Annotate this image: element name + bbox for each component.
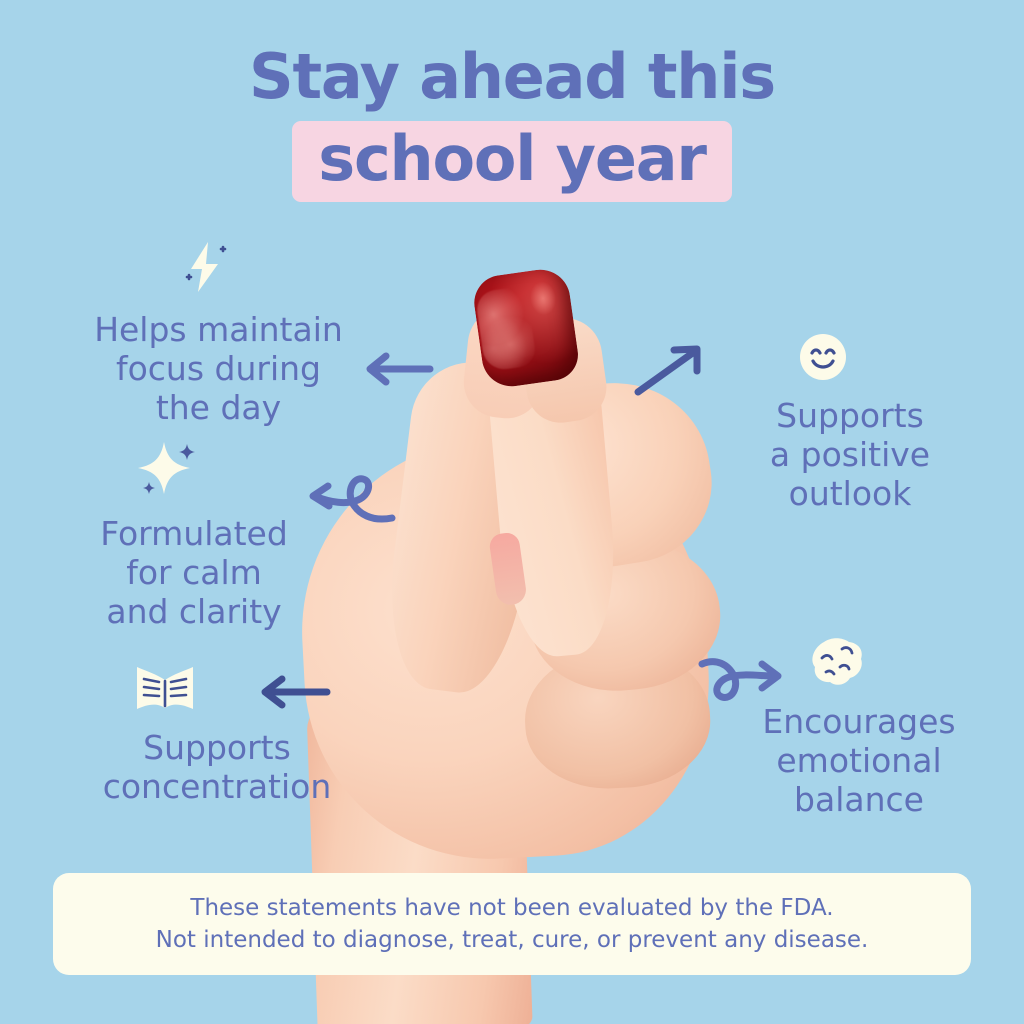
- fda-disclaimer-box: These statements have not been evaluated…: [53, 873, 971, 975]
- arrow-up-right-diagonal-outlook: [632, 340, 710, 402]
- feature-balance: Encourages emotional balance: [714, 634, 1004, 819]
- feature-concentration-text: Supports concentration: [62, 728, 372, 806]
- feature-calm: Formulated for calm and clarity: [40, 438, 348, 631]
- headline-line-1: Stay ahead this: [0, 44, 1024, 110]
- smiley-face-icon: [796, 330, 1000, 388]
- feature-focus: Helps maintain focus during the day: [46, 236, 391, 427]
- headline-highlight-box: school year: [292, 121, 732, 202]
- gummy-supplement: [471, 266, 582, 390]
- headline: Stay ahead this school year: [0, 44, 1024, 202]
- promotional-poster: Stay ahead this school year: [0, 0, 1024, 1024]
- brain-icon: [806, 634, 1004, 694]
- gummy-highlight: [528, 280, 558, 317]
- open-book-icon: [132, 660, 372, 720]
- feature-calm-text: Formulated for calm and clarity: [40, 514, 348, 631]
- headline-line-2: school year: [318, 127, 706, 191]
- sparkle-icon: [132, 438, 348, 506]
- fda-disclaimer-text: These statements have not been evaluated…: [138, 892, 887, 956]
- feature-outlook: Supports a positive outlook: [700, 330, 1000, 513]
- feature-outlook-text: Supports a positive outlook: [700, 396, 1000, 513]
- gummy-texture: [475, 286, 538, 372]
- lightning-bolt-icon: [174, 236, 391, 302]
- feature-concentration: Supports concentration: [62, 660, 372, 806]
- feature-balance-text: Encourages emotional balance: [714, 702, 1004, 819]
- feature-focus-text: Helps maintain focus during the day: [46, 310, 391, 427]
